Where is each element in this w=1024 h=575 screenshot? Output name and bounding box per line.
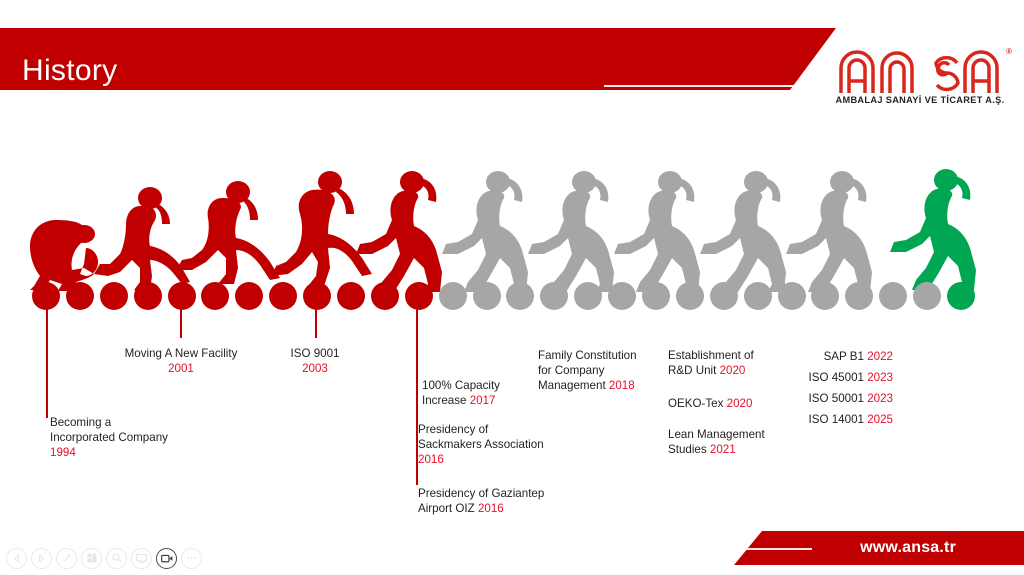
slide-header: History bbox=[0, 28, 1024, 90]
timeline-dot bbox=[947, 282, 975, 310]
milestone-text: SAP B1 bbox=[824, 350, 864, 363]
milestone-text: Becoming a bbox=[50, 416, 111, 429]
milestone-year: 2003 bbox=[302, 362, 328, 375]
milestone-text: Studies bbox=[668, 443, 707, 456]
magnifier-icon[interactable] bbox=[106, 548, 127, 569]
ellipsis-icon[interactable] bbox=[181, 548, 202, 569]
play-arrow-icon[interactable] bbox=[31, 548, 52, 569]
milestone-label-rd-unit: Establishment ofR&D Unit 2020 bbox=[668, 348, 754, 378]
milestone-year: 2020 bbox=[720, 364, 746, 377]
milestone-text: R&D Unit bbox=[668, 364, 716, 377]
timeline-dot bbox=[913, 282, 941, 310]
timeline-dot bbox=[710, 282, 738, 310]
milestone-connector-line bbox=[315, 300, 317, 338]
milestone-text: ISO 50001 bbox=[809, 392, 868, 405]
milestone-year: 2018 bbox=[609, 379, 635, 392]
header-red-banner bbox=[0, 28, 836, 90]
page-title: History bbox=[22, 56, 117, 86]
milestone-text: Increase bbox=[422, 394, 466, 407]
timeline-dot bbox=[845, 282, 873, 310]
timeline-dot bbox=[540, 282, 568, 310]
registered-trademark-icon: ® bbox=[1006, 48, 1012, 56]
timeline-dot bbox=[811, 282, 839, 310]
milestone-year: 2016 bbox=[478, 502, 504, 515]
milestone-year: 2020 bbox=[727, 397, 753, 410]
milestone-year: 1994 bbox=[50, 446, 76, 459]
timeline-dot bbox=[744, 282, 772, 310]
timeline-dot bbox=[439, 282, 467, 310]
milestone-label-iso-14001: ISO 14001 2025 bbox=[780, 412, 893, 427]
milestone-year: 2001 bbox=[168, 362, 194, 375]
milestone-text: ISO 9001 bbox=[291, 347, 340, 360]
footer-accent-rule bbox=[734, 548, 812, 550]
milestone-text: 100% Capacity bbox=[422, 379, 500, 392]
milestone-text: Management bbox=[538, 379, 606, 392]
milestone-label-iso-45001: ISO 45001 2023 bbox=[780, 370, 893, 385]
runner-group-inactive bbox=[442, 171, 872, 292]
timeline-dots bbox=[0, 282, 1024, 312]
milestone-text: Presidency of Gaziantep bbox=[418, 487, 544, 500]
milestone-year: 2023 bbox=[867, 392, 893, 405]
evolution-of-running-graphic bbox=[0, 150, 1024, 295]
runner-10 bbox=[786, 171, 872, 292]
slide-layout-icon[interactable] bbox=[81, 548, 102, 569]
milestone-label-oeko-tex: OEKO-Tex 2020 bbox=[668, 396, 752, 411]
milestone-text: Moving A New Facility bbox=[125, 347, 238, 360]
milestone-year: 2021 bbox=[710, 443, 736, 456]
runner-11-future bbox=[890, 169, 976, 290]
timeline-dot bbox=[405, 282, 433, 310]
milestone-text: Airport OIZ bbox=[418, 502, 475, 515]
timeline-dot bbox=[134, 282, 162, 310]
milestone-label-iso-50001: ISO 50001 2023 bbox=[780, 391, 893, 406]
milestone-year: 2023 bbox=[867, 371, 893, 384]
website-url: www.ansa.tr bbox=[860, 539, 956, 557]
timeline-dot bbox=[574, 282, 602, 310]
milestone-text: ISO 14001 bbox=[809, 413, 864, 426]
milestone-label-new-facility: Moving A New Facility2001 bbox=[117, 346, 245, 376]
milestone-label-incorporated: Becoming aIncorporated Company1994 bbox=[50, 415, 168, 461]
milestone-text: Lean Management bbox=[668, 428, 765, 441]
timeline-dot bbox=[303, 282, 331, 310]
timeline-dot bbox=[506, 282, 534, 310]
ansa-logo-mark bbox=[836, 48, 1004, 94]
milestone-year: 2022 bbox=[867, 350, 893, 363]
milestone-connector-line bbox=[46, 300, 48, 418]
timeline-dot bbox=[100, 282, 128, 310]
milestone-text: Presidency of bbox=[418, 423, 488, 436]
timeline-dot bbox=[608, 282, 636, 310]
milestone-text: Establishment of bbox=[668, 349, 754, 362]
runner-1-crouch bbox=[30, 220, 98, 291]
milestone-text: Sackmakers Association bbox=[418, 438, 544, 451]
runner-6 bbox=[442, 171, 528, 292]
timeline-dot bbox=[778, 282, 806, 310]
presentation-screen-icon[interactable] bbox=[131, 548, 152, 569]
milestone-text: OEKO-Tex bbox=[668, 397, 723, 410]
timeline-dot bbox=[676, 282, 704, 310]
timeline-dot bbox=[337, 282, 365, 310]
runner-4-drive-phase bbox=[272, 171, 372, 286]
timeline-dot bbox=[235, 282, 263, 310]
milestone-text: for Company bbox=[538, 364, 604, 377]
ansa-logo-subtitle: AMBALAJ SANAYİ VE TİCARET A.Ş. bbox=[830, 95, 1010, 105]
timeline-dot bbox=[371, 282, 399, 310]
milestone-year: 2025 bbox=[867, 413, 893, 426]
milestone-connector-line bbox=[180, 300, 182, 338]
header-accent-rule bbox=[604, 85, 836, 87]
runner-8 bbox=[614, 171, 700, 292]
milestone-label-gaziantep-airport-oiz: Presidency of GaziantepAirport OIZ 2016 bbox=[418, 486, 544, 516]
timeline-dot bbox=[66, 282, 94, 310]
pen-icon[interactable] bbox=[56, 548, 77, 569]
runner-3-set-position bbox=[176, 181, 280, 284]
slide: History bbox=[0, 0, 1024, 575]
milestone-text: ISO 45001 bbox=[809, 371, 864, 384]
milestone-label-sap-b1: SAP B1 2022 bbox=[780, 349, 893, 364]
milestone-label-family-constitution: Family Constitutionfor CompanyManagement… bbox=[538, 348, 637, 394]
milestone-label-sackmakers-presidency: Presidency ofSackmakers Association2016 bbox=[418, 422, 544, 468]
milestone-label-iso-9001: ISO 90012003 bbox=[276, 346, 354, 376]
milestone-label-lean-management: Lean ManagementStudies 2021 bbox=[668, 427, 765, 457]
timeline-dot bbox=[473, 282, 501, 310]
timeline-dot bbox=[201, 282, 229, 310]
runner-2-crouch-start bbox=[94, 187, 190, 290]
milestone-year: 2017 bbox=[470, 394, 496, 407]
timeline-dot bbox=[642, 282, 670, 310]
milestone-label-capacity-increase: 100% CapacityIncrease 2017 bbox=[422, 378, 500, 408]
ansa-logo: ® AMBALAJ SANAYİ VE TİCARET A.Ş. bbox=[830, 48, 1010, 112]
presentation-toolbar[interactable] bbox=[6, 547, 202, 569]
runner-7 bbox=[528, 171, 614, 292]
milestone-year: 2016 bbox=[418, 453, 444, 466]
video-camera-icon[interactable] bbox=[156, 548, 177, 569]
runner-silhouette-group bbox=[30, 171, 442, 292]
milestone-text: Family Constitution bbox=[538, 349, 637, 362]
timeline-dot bbox=[269, 282, 297, 310]
runner-9 bbox=[700, 171, 786, 292]
milestone-text: Incorporated Company bbox=[50, 431, 168, 444]
timeline-dot bbox=[879, 282, 907, 310]
previous-arrow-icon[interactable] bbox=[6, 548, 27, 569]
